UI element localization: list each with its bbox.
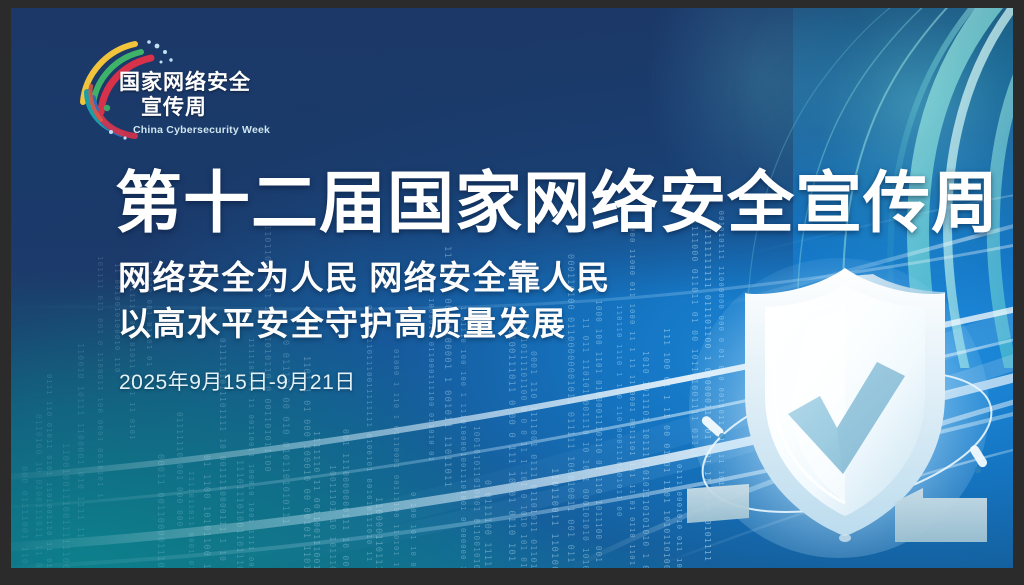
logo-english-text: China Cybersecurity Week [133, 124, 270, 136]
date-range: 2025年9月15日-9月21日 [119, 366, 356, 396]
poster-artwork: 000 01111001 110 1 0101010 110 0 1110111… [11, 8, 1013, 568]
shield-base-nub [839, 534, 851, 542]
page-title: 第十二届国家网络安全宣传周 [115, 165, 999, 243]
logo-chinese-text: 国家网络安全 宣传周 [119, 70, 251, 120]
poster-frame: 000 01111001 110 1 0101010 110 0 1110111… [0, 0, 1024, 585]
shield-graphic [687, 256, 1007, 568]
logo: 国家网络安全 宣传周 China Cybersecurity Week [71, 36, 271, 144]
logo-cn-line2: 宣传周 [119, 95, 251, 120]
subtitle-block: 网络安全为人民 网络安全靠人民 以高水平安全守护高质量发展 [118, 256, 611, 348]
logo-cn-line1: 国家网络安全 [119, 71, 251, 94]
arrow-banner-left [687, 484, 749, 524]
subtitle-line-1: 网络安全为人民 网络安全靠人民 [118, 256, 611, 302]
subtitle-line-2: 以高水平安全守护高质量发展 [118, 302, 611, 348]
